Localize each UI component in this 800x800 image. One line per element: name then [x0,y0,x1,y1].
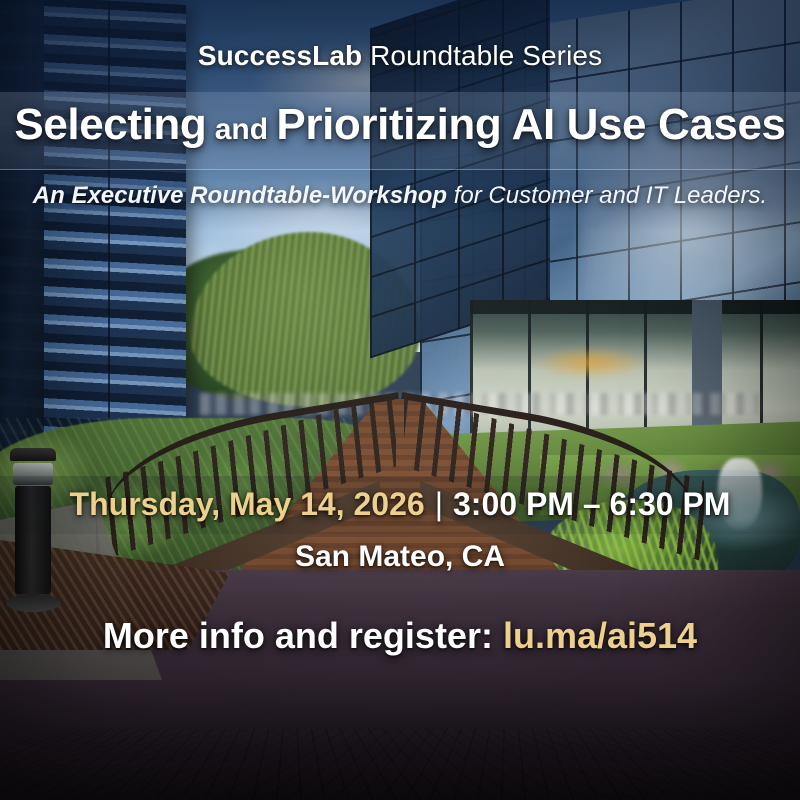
registration-prefix: More info and register: [103,615,503,656]
subtitle-emphasis: An Executive Roundtable-Workshop [33,182,447,209]
event-date: Thursday, May 14, 2026 [70,486,425,522]
registration-callout: More info and register: lu.ma/ai514 [0,615,800,657]
headline-conjunction: and [206,113,276,146]
event-time: 3:00 PM – 6:30 PM [453,486,730,522]
event-poster: SuccessLab Roundtable Series Selecting a… [0,0,800,800]
headline-part-one: Selecting [14,100,206,149]
subtitle: An Executive Roundtable-Workshop for Cus… [0,182,800,210]
series-label: Roundtable Series [362,40,602,71]
headline-part-two: Prioritizing AI Use Cases [276,100,785,149]
event-datetime: Thursday, May 14, 2026|3:00 PM – 6:30 PM [0,486,800,523]
page-title: Selecting and Prioritizing AI Use Cases [0,100,800,150]
brand-name: SuccessLab [198,40,362,71]
series-eyebrow: SuccessLab Roundtable Series [0,40,800,72]
registration-url[interactable]: lu.ma/ai514 [503,615,697,656]
datetime-separator: | [435,486,443,522]
poster-text-content: SuccessLab Roundtable Series Selecting a… [0,0,800,800]
event-location: San Mateo, CA [0,540,800,574]
subtitle-rest: for Customer and IT Leaders. [447,182,767,209]
